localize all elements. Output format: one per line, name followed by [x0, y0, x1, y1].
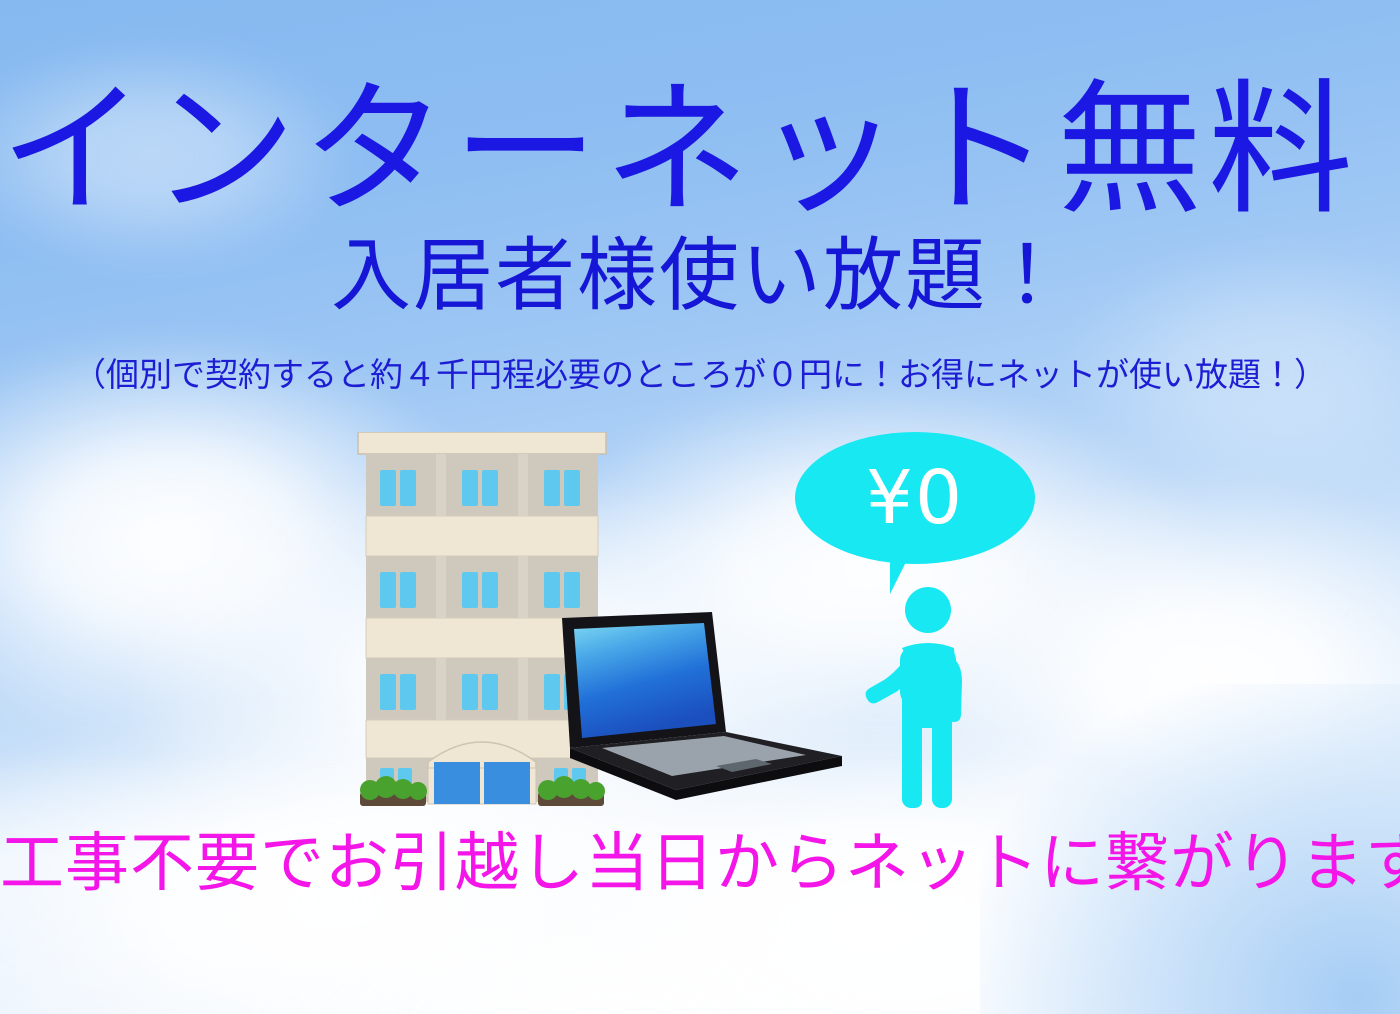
poster-canvas: ¥0 インターネット無料！ 入居者様使い放題！ （個別	[0, 0, 1400, 1014]
laptop-illustration	[556, 608, 846, 813]
price-speech-bubble: ¥0	[795, 432, 1045, 602]
note-text: （個別で契約すると約４千円程必要のところが０円に！お得にネットが使い放題！）	[0, 355, 1400, 395]
page-title: インターネット無料！	[0, 78, 1400, 223]
cloud-shape	[240, 900, 940, 1014]
price-label: ¥0	[795, 432, 1035, 564]
subtitle: 入居者様使い放題！	[0, 236, 1400, 316]
person-pictogram-icon	[862, 586, 982, 812]
footer-tagline: 工事不要でお引越し当日からネットに繋がります	[0, 832, 1400, 896]
